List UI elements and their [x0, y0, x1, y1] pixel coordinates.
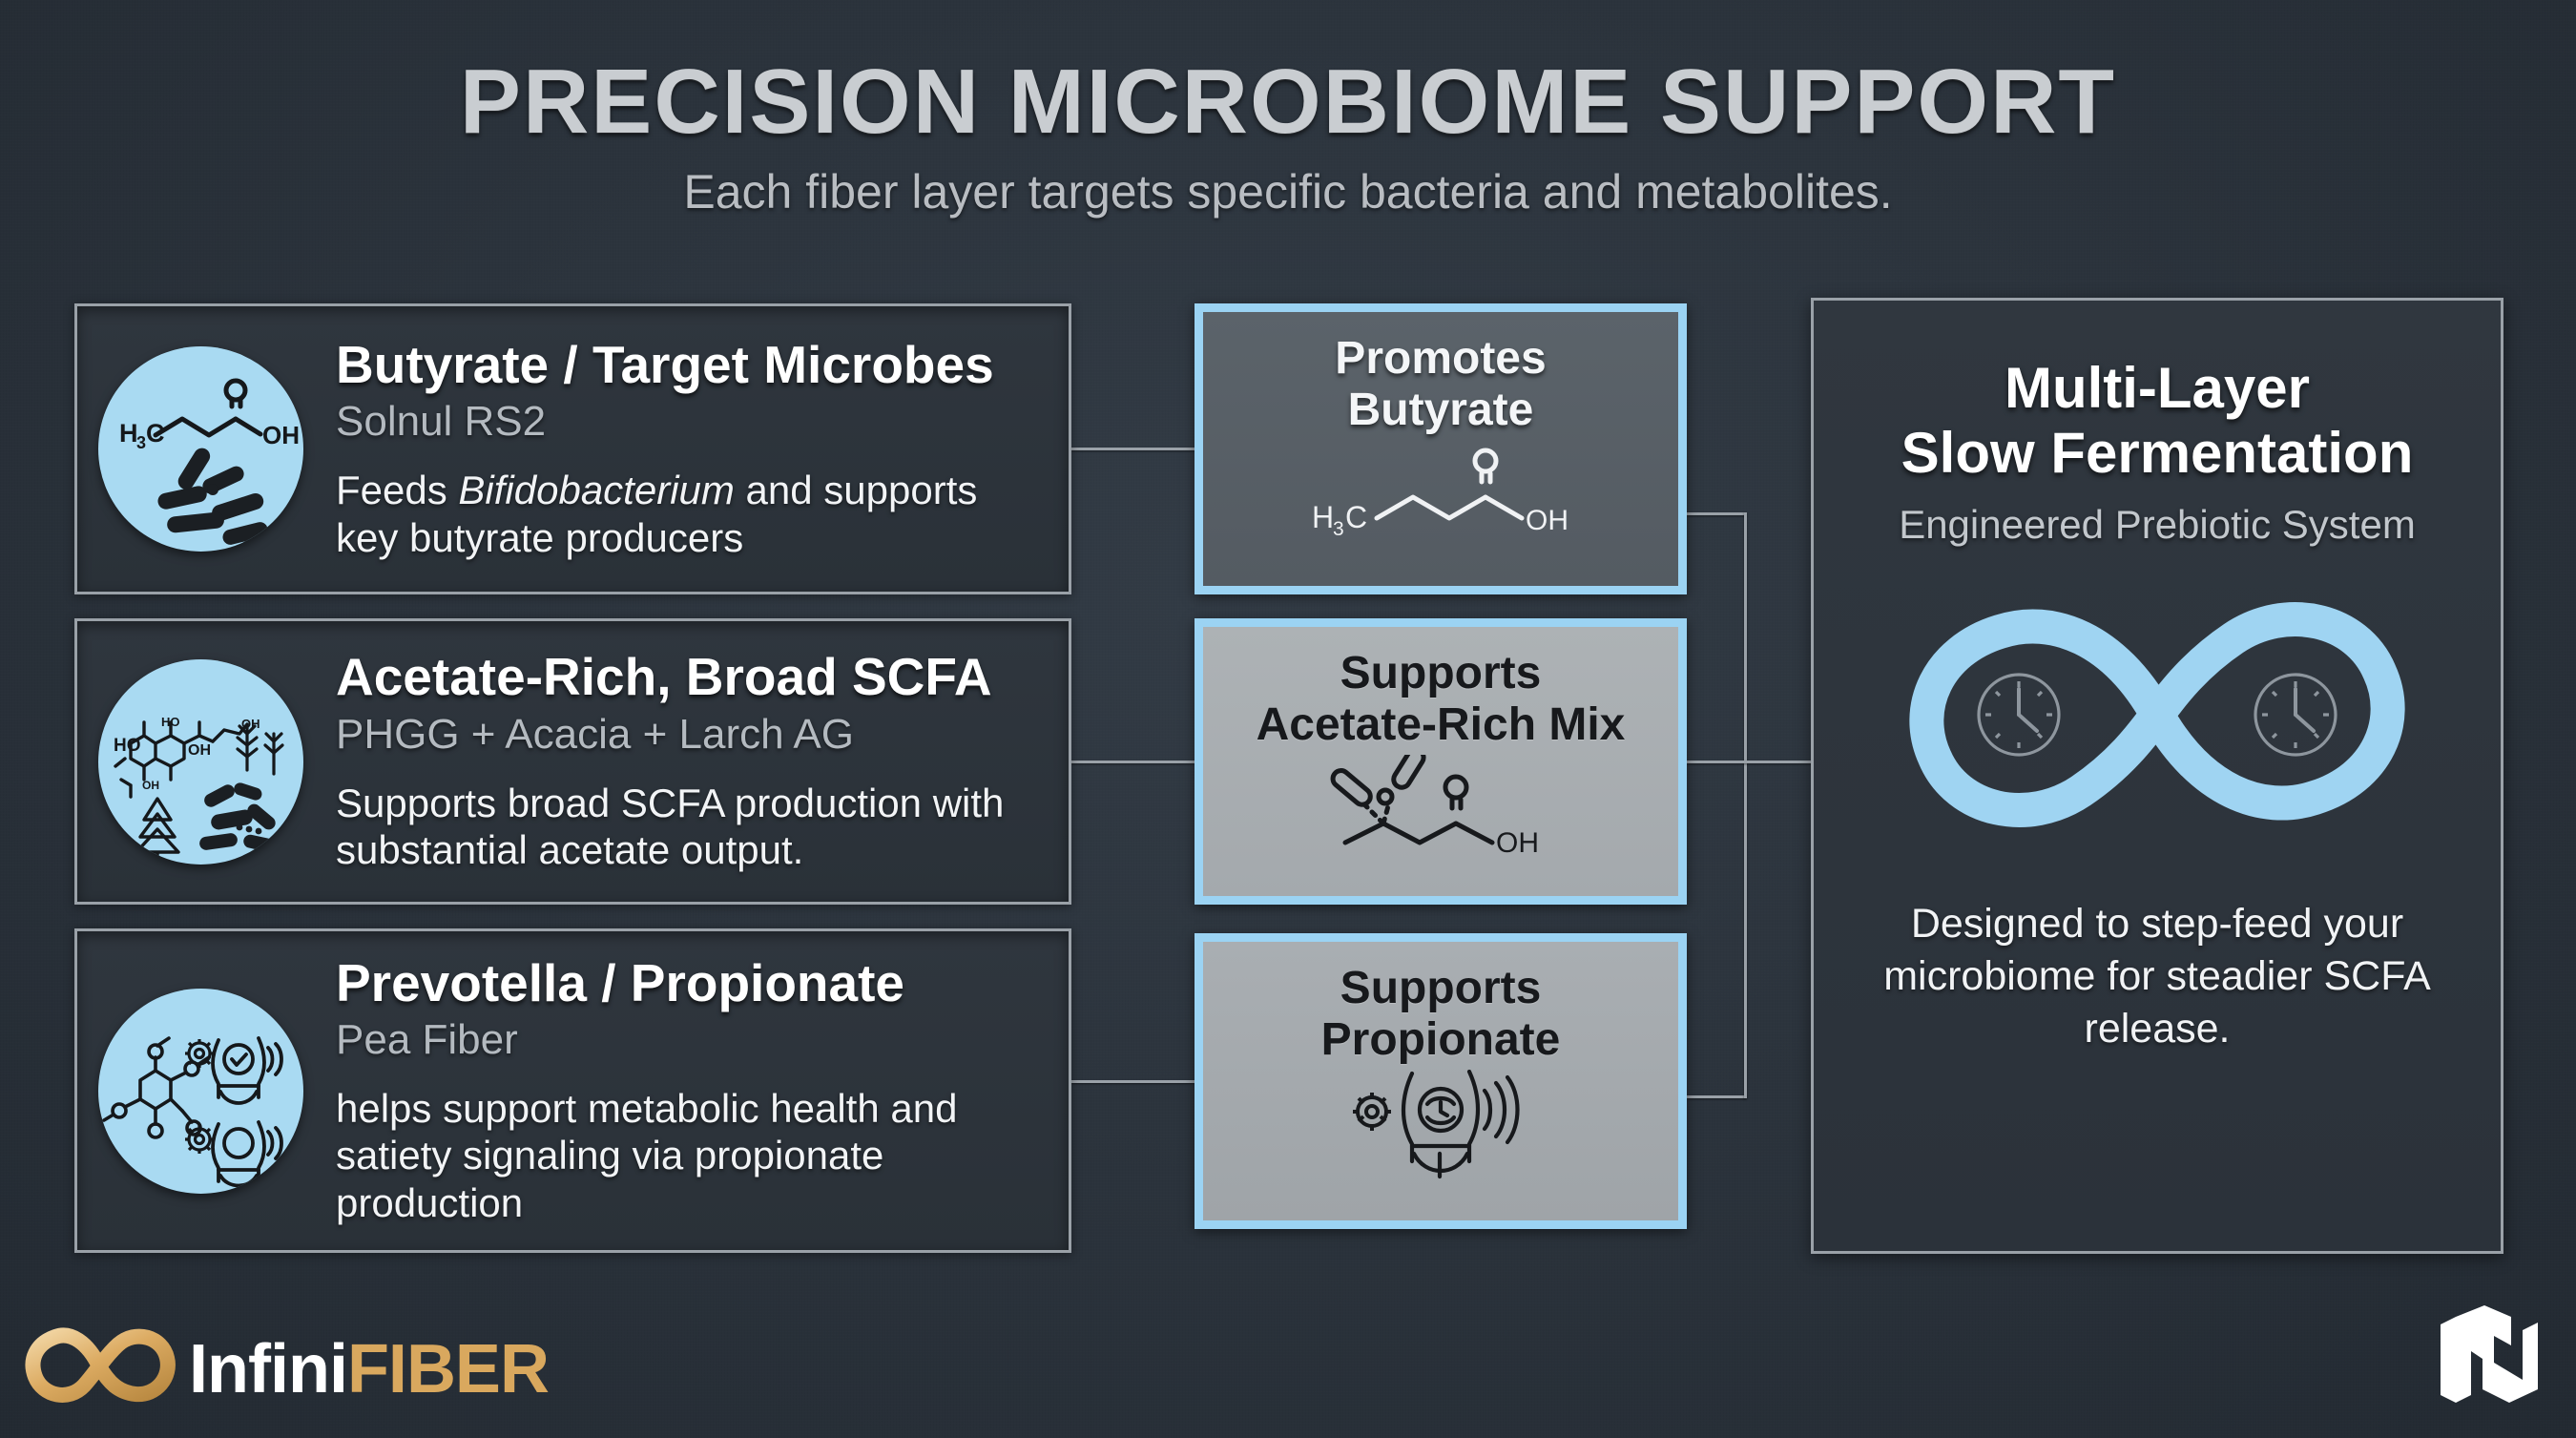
svg-text:OH: OH — [188, 742, 211, 759]
left-card-subheading: Solnul RS2 — [336, 397, 1048, 448]
metabolic-molecule-waistline-icon — [98, 989, 303, 1194]
butyric-acid-structure-icon: H 3 C OH — [1302, 440, 1579, 550]
acetate-microbe-structure-icon: OH — [1307, 755, 1574, 865]
svg-text:H: H — [119, 419, 138, 448]
left-card-text: Prevotella / Propionate Pea Fiber helps … — [303, 955, 1048, 1227]
middle-box-label-line2: Acetate-Rich Mix — [1257, 699, 1626, 751]
right-panel-title: Multi-Layer Slow Fermentation — [1901, 356, 2414, 487]
diagram-stage: H 3 C OH Butyrate / Target Microbes Soln… — [0, 303, 2576, 1267]
middle-box-label-line2: Propionate — [1321, 1014, 1561, 1066]
right-panel-subtitle: Engineered Prebiotic System — [1899, 502, 2416, 548]
middle-box-supports-propionate[interactable]: Supports Propionate — [1195, 933, 1687, 1229]
infinity-clocks-icon — [1885, 586, 2429, 848]
middle-box-supports-acetate-rich-mix[interactable]: Supports Acetate-Rich Mix OH — [1195, 618, 1687, 905]
svg-text:3: 3 — [1333, 518, 1344, 540]
svg-text:HO: HO — [114, 736, 141, 756]
svg-text:H: H — [1312, 500, 1334, 534]
right-panel-body: Designed to step-feed your microbiome fo… — [1814, 898, 2501, 1055]
svg-text:OH: OH — [1496, 827, 1539, 859]
left-card-propionate[interactable]: Prevotella / Propionate Pea Fiber helps … — [74, 928, 1071, 1253]
header: PRECISION MICROBIOME SUPPORT Each fiber … — [0, 55, 2576, 219]
connector-box1-stub — [1687, 512, 1746, 515]
connector-card3-to-box3 — [1071, 1080, 1195, 1083]
svg-text:OH: OH — [142, 779, 159, 792]
left-card-heading: Butyrate / Target Microbes — [336, 337, 1048, 393]
left-card-body: Supports broad SCFA production with subs… — [336, 780, 1048, 874]
n-monogram-icon[interactable] — [2427, 1303, 2540, 1415]
middle-box-label: Supports Acetate-Rich Mix — [1257, 648, 1626, 751]
middle-box-label: Supports Propionate — [1321, 963, 1561, 1066]
left-card-subheading: PHGG + Acacia + Larch AG — [336, 710, 1048, 761]
svg-text:OH: OH — [1526, 505, 1568, 536]
left-card-text: Acetate-Rich, Broad SCFA PHGG + Acacia +… — [303, 649, 1048, 873]
logo-word-accent: FIBER — [347, 1331, 549, 1407]
gut-waistline-gear-icon — [1326, 1070, 1555, 1189]
left-card-butyrate[interactable]: H 3 C OH Butyrate / Target Microbes Soln… — [74, 303, 1071, 594]
connector-box3-stub — [1687, 1095, 1746, 1098]
right-panel-title-line2: Slow Fermentation — [1901, 421, 2414, 486]
middle-box-promotes-butyrate[interactable]: Promotes Butyrate H 3 C OH — [1195, 303, 1687, 594]
infinity-logo-icon — [23, 1322, 176, 1417]
left-card-subheading: Pea Fiber — [336, 1015, 1048, 1066]
middle-box-label: Promotes Butyrate — [1335, 333, 1546, 436]
infinifiber-logo[interactable]: InfiniFIBER — [23, 1322, 549, 1417]
logo-word-light: Infini — [189, 1331, 347, 1407]
butyrate-molecule-bacteria-icon: H 3 C OH — [98, 346, 303, 552]
left-card-acetate[interactable]: HO OH HO OH OH — [74, 618, 1071, 905]
connector-bus-to-right-panel — [1687, 761, 1813, 763]
connector-card2-to-box2 — [1071, 761, 1195, 763]
svg-text:C: C — [1345, 500, 1367, 534]
svg-text:3: 3 — [136, 433, 146, 452]
left-card-body: helps support metabolic health and satie… — [336, 1085, 1048, 1227]
left-card-body: Feeds Bifidobacterium and supports key b… — [336, 467, 1048, 561]
page-subtitle: Each fiber layer targets specific bacter… — [0, 164, 2576, 219]
page-title: PRECISION MICROBIOME SUPPORT — [0, 55, 2576, 149]
middle-box-label-line1: Promotes — [1335, 333, 1546, 385]
middle-box-label-line1: Supports — [1321, 963, 1561, 1014]
svg-text:OH: OH — [262, 421, 300, 449]
left-card-text: Butyrate / Target Microbes Solnul RS2 Fe… — [303, 337, 1048, 561]
polysaccharide-acacia-larch-bacteria-icon: HO OH HO OH OH — [98, 659, 303, 865]
infinifiber-wordmark: InfiniFIBER — [189, 1335, 549, 1404]
left-card-heading: Prevotella / Propionate — [336, 955, 1048, 1011]
svg-text:C: C — [146, 419, 165, 448]
middle-box-label-line1: Supports — [1257, 648, 1626, 699]
right-panel-summary[interactable]: Multi-Layer Slow Fermentation Engineered… — [1811, 298, 2503, 1254]
svg-text:HO: HO — [161, 715, 180, 729]
connector-vertical-bus — [1744, 512, 1747, 1098]
left-card-heading: Acetate-Rich, Broad SCFA — [336, 649, 1048, 705]
right-panel-title-line1: Multi-Layer — [1901, 356, 2414, 421]
connector-card1-to-box1 — [1071, 448, 1195, 450]
middle-box-label-line2: Butyrate — [1335, 385, 1546, 436]
